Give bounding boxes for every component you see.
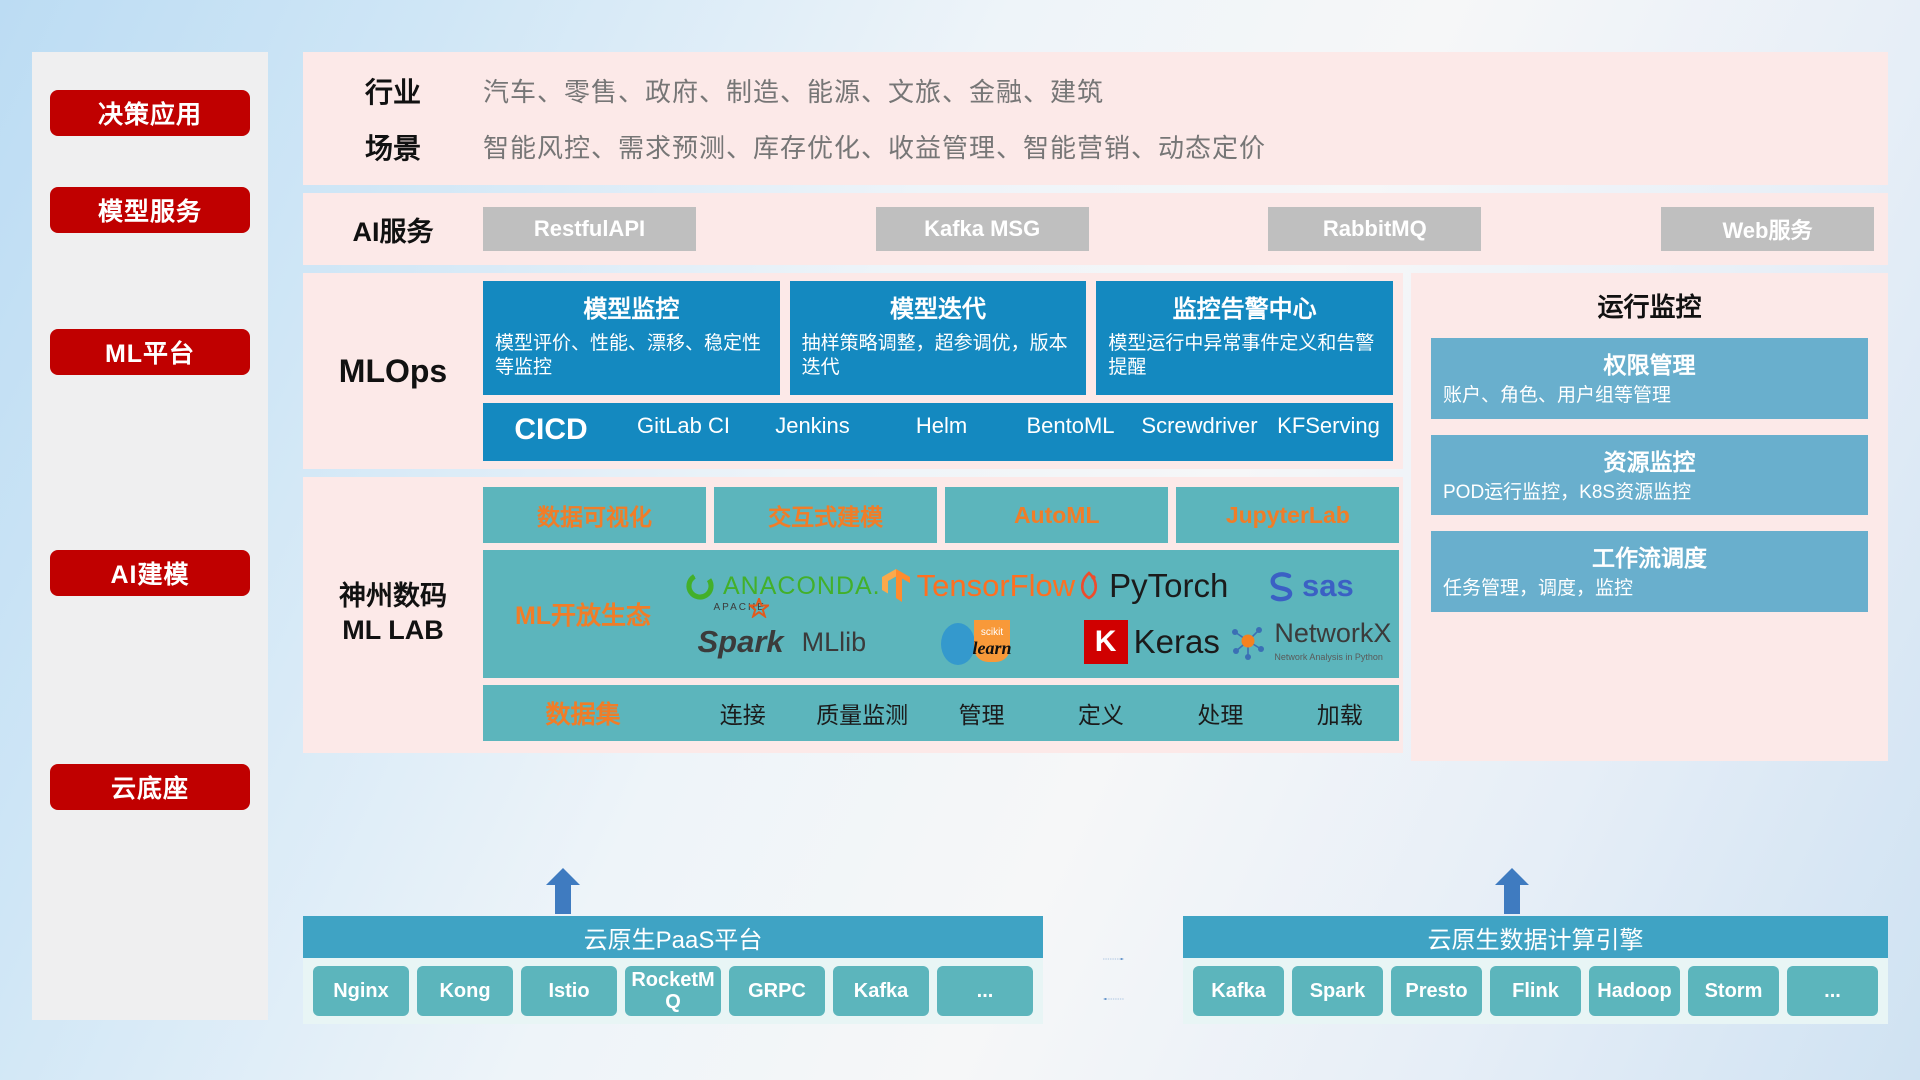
mlops-card-model-monitor[interactable]: 模型监控 模型评价、性能、漂移、稳定性等监控: [483, 281, 780, 395]
cloud-paas-block: 云原生PaaS平台 Nginx Kong Istio RocketMQ GRPC…: [303, 916, 1043, 1024]
cicd-item-helm[interactable]: Helm: [877, 413, 1006, 438]
tensorflow-icon: [881, 568, 911, 604]
card-title: 工作流调度: [1443, 539, 1856, 573]
ml-lab-label: 神州数码 ML LAB: [303, 487, 483, 741]
paas-chip-kafka[interactable]: Kafka: [833, 966, 929, 1016]
networkx-icon: [1228, 623, 1268, 661]
card-desc: 账户、角色、用户组等管理: [1443, 384, 1856, 409]
anaconda-icon: [683, 569, 717, 603]
spark-wordmark: Spark: [697, 624, 783, 659]
scenario-key: 场景: [303, 127, 483, 167]
dataset-item-load[interactable]: 加载: [1280, 696, 1399, 730]
paas-chip-istio[interactable]: Istio: [521, 966, 617, 1016]
service-chip-web[interactable]: Web服务: [1661, 207, 1874, 251]
dataset-label: 数据集: [483, 695, 683, 731]
rail-label: AI建模: [110, 555, 189, 591]
service-chip-restfulapi[interactable]: RestfulAPI: [483, 207, 696, 251]
rail-item-model-service[interactable]: 模型服务: [50, 187, 250, 233]
ai-service-band: AI服务 RestfulAPI Kafka MSG RabbitMQ Web服务: [303, 193, 1888, 265]
lab-tool-jupyterlab[interactable]: JupyterLab: [1176, 487, 1399, 543]
monitor-card-workflow[interactable]: 工作流调度 任务管理，调度，监控: [1431, 531, 1868, 612]
mllib-wordmark: MLlib: [802, 627, 867, 658]
ml-ecosystem-row: ML开放生态 ANACONDA.: [483, 550, 1399, 678]
card-title: 模型监控: [495, 289, 768, 324]
mid-area: MLOps 模型监控 模型评价、性能、漂移、稳定性等监控 模型迭代 抽样策略调整…: [303, 273, 1888, 761]
engine-chip-more[interactable]: ...: [1787, 966, 1878, 1016]
keras-mark-icon: K: [1084, 620, 1128, 664]
dataset-row: 数据集 连接 质量监测 管理 定义 处理 加载: [483, 685, 1399, 741]
cicd-item-kfserving[interactable]: KFServing: [1264, 413, 1393, 438]
monitor-card-resource[interactable]: 资源监控 POD运行监控，K8S资源监控: [1431, 435, 1868, 516]
rail-label: ML平台: [105, 334, 195, 370]
keras-wordmark: Keras: [1134, 623, 1220, 661]
svg-text:learn: learn: [972, 638, 1011, 658]
anaconda-wordmark: ANACONDA.: [723, 572, 881, 601]
scikit-learn-logo: scikit learn: [932, 614, 1024, 670]
service-chip-kafka-msg[interactable]: Kafka MSG: [876, 207, 1089, 251]
tensorflow-wordmark: TensorFlow: [917, 568, 1076, 604]
lab-tool-automl[interactable]: AutoML: [945, 487, 1168, 543]
dataset-item-quality[interactable]: 质量监测: [802, 696, 921, 730]
dashed-arrow-left-icon: [1051, 998, 1176, 1000]
card-desc: 任务管理，调度，监控: [1443, 577, 1856, 602]
cicd-item-jenkins[interactable]: Jenkins: [748, 413, 877, 438]
pytorch-icon: [1075, 569, 1103, 603]
rail-item-ml-platform[interactable]: ML平台: [50, 329, 250, 375]
cicd-item-screwdriver[interactable]: Screwdriver: [1135, 413, 1264, 438]
dataset-item-connect[interactable]: 连接: [683, 696, 802, 730]
up-arrow-paas-icon: [546, 868, 580, 914]
industry-value: 汽车、零售、政府、制造、能源、文旅、金融、建筑: [483, 72, 1104, 109]
scikit-learn-icon: scikit learn: [932, 614, 1024, 670]
tensorflow-logo: TensorFlow: [881, 568, 1076, 604]
service-chip-rabbitmq[interactable]: RabbitMQ: [1268, 207, 1481, 251]
rail-label: 决策应用: [98, 95, 202, 131]
cloud-base-area: 云原生PaaS平台 Nginx Kong Istio RocketMQ GRPC…: [303, 890, 1888, 1030]
up-arrow-engine-icon: [1495, 868, 1529, 914]
cloud-engine-title: 云原生数据计算引擎: [1183, 916, 1888, 958]
mlops-band: MLOps 模型监控 模型评价、性能、漂移、稳定性等监控 模型迭代 抽样策略调整…: [303, 273, 1403, 469]
cicd-bar: CICD GitLab CI Jenkins Helm BentoML Scre…: [483, 403, 1393, 461]
cloud-engine-block: 云原生数据计算引擎 Kafka Spark Presto Flink Hadoo…: [1183, 916, 1888, 1024]
networkx-wordmark: NetworkX: [1274, 618, 1391, 648]
lab-tool-interactive-modeling[interactable]: 交互式建模: [714, 487, 937, 543]
card-title: 模型迭代: [802, 289, 1075, 324]
rail-item-cloud-base[interactable]: 云底座: [50, 764, 250, 810]
rail-label: 云底座: [111, 769, 189, 805]
rail-item-decision[interactable]: 决策应用: [50, 90, 250, 136]
cloud-paas-title: 云原生PaaS平台: [303, 916, 1043, 958]
scenario-row: 场景 智能风控、需求预测、库存优化、收益管理、智能营销、动态定价: [303, 127, 1888, 167]
cicd-label: CICD: [483, 413, 619, 447]
anaconda-logo: ANACONDA.: [683, 569, 881, 603]
paas-chip-grpc[interactable]: GRPC: [729, 966, 825, 1016]
ml-ecosystem-label: ML开放生态: [483, 596, 683, 632]
card-desc: 模型运行中异常事件定义和告警提醒: [1108, 332, 1381, 381]
runtime-monitor-title: 运行监控: [1431, 287, 1868, 324]
dataset-item-define[interactable]: 定义: [1041, 696, 1160, 730]
pytorch-wordmark: PyTorch: [1109, 567, 1228, 605]
runtime-monitor-panel: 运行监控 权限管理 账户、角色、用户组等管理 资源监控 POD运行监控，K8S资…: [1411, 273, 1888, 761]
spark-star-icon: [749, 598, 769, 618]
ai-service-label: AI服务: [303, 210, 483, 249]
card-title: 监控告警中心: [1108, 289, 1381, 324]
ml-lab-label-line2: ML LAB: [342, 615, 444, 645]
keras-logo: K Keras: [1084, 620, 1220, 664]
engine-chip-spark[interactable]: Spark: [1292, 966, 1383, 1016]
ml-lab-band: 神州数码 ML LAB 数据可视化 交互式建模 AutoML JupyterLa…: [303, 477, 1403, 753]
mlops-label: MLOps: [303, 281, 483, 461]
card-title: 权限管理: [1443, 346, 1856, 380]
card-desc: 模型评价、性能、漂移、稳定性等监控: [495, 332, 768, 381]
cicd-item-bentoml[interactable]: BentoML: [1006, 413, 1135, 438]
mlops-card-alert-center[interactable]: 监控告警中心 模型运行中异常事件定义和告警提醒: [1096, 281, 1393, 395]
sas-icon: [1266, 570, 1296, 602]
pytorch-logo: PyTorch: [1075, 567, 1228, 605]
sas-wordmark: sas: [1302, 568, 1354, 604]
paas-chip-more[interactable]: ...: [937, 966, 1033, 1016]
card-desc: POD运行监控，K8S资源监控: [1443, 481, 1856, 506]
industry-band: 行业 汽车、零售、政府、制造、能源、文旅、金融、建筑 场景 智能风控、需求预测、…: [303, 52, 1888, 185]
dataset-item-process[interactable]: 处理: [1161, 696, 1280, 730]
dashed-arrow-right-icon: [1051, 958, 1176, 960]
rail-label: 模型服务: [98, 192, 202, 228]
networkx-logo: NetworkX Network Analysis in Python: [1228, 619, 1391, 664]
lab-tool-data-visualization[interactable]: 数据可视化: [483, 487, 706, 543]
sas-logo: sas: [1266, 568, 1354, 604]
industry-row: 行业 汽车、零售、政府、制造、能源、文旅、金融、建筑: [303, 71, 1888, 111]
paas-chip-kong[interactable]: Kong: [417, 966, 513, 1016]
spark-mllib-logo: APACHE Spark MLlib: [697, 624, 866, 660]
rail-item-ai-modeling[interactable]: AI建模: [50, 550, 250, 596]
networkx-tagline: Network Analysis in Python: [1274, 652, 1383, 662]
scenario-value: 智能风控、需求预测、库存优化、收益管理、智能营销、动态定价: [483, 128, 1266, 165]
engine-chip-storm[interactable]: Storm: [1688, 966, 1779, 1016]
cicd-item-gitlab-ci[interactable]: GitLab CI: [619, 413, 748, 438]
architecture-main: 行业 汽车、零售、政府、制造、能源、文旅、金融、建筑 场景 智能风控、需求预测、…: [303, 52, 1888, 761]
svg-text:scikit: scikit: [981, 627, 1003, 638]
paas-chip-rocketmq[interactable]: RocketMQ: [625, 966, 721, 1016]
card-desc: 抽样策略调整，超参调优，版本迭代: [802, 332, 1075, 381]
industry-key: 行业: [303, 71, 483, 111]
engine-chip-flink[interactable]: Flink: [1490, 966, 1581, 1016]
paas-chip-nginx[interactable]: Nginx: [313, 966, 409, 1016]
engine-chip-presto[interactable]: Presto: [1391, 966, 1482, 1016]
engine-chip-kafka[interactable]: Kafka: [1193, 966, 1284, 1016]
engine-chip-hadoop[interactable]: Hadoop: [1589, 966, 1680, 1016]
monitor-card-permission[interactable]: 权限管理 账户、角色、用户组等管理: [1431, 338, 1868, 419]
card-title: 资源监控: [1443, 443, 1856, 477]
mlops-card-model-iteration[interactable]: 模型迭代 抽样策略调整，超参调优，版本迭代: [790, 281, 1087, 395]
dataset-item-manage[interactable]: 管理: [922, 696, 1041, 730]
ml-lab-label-line1: 神州数码: [339, 581, 447, 611]
layer-rail: 决策应用 模型服务 ML平台 AI建模 云底座: [32, 52, 268, 1020]
